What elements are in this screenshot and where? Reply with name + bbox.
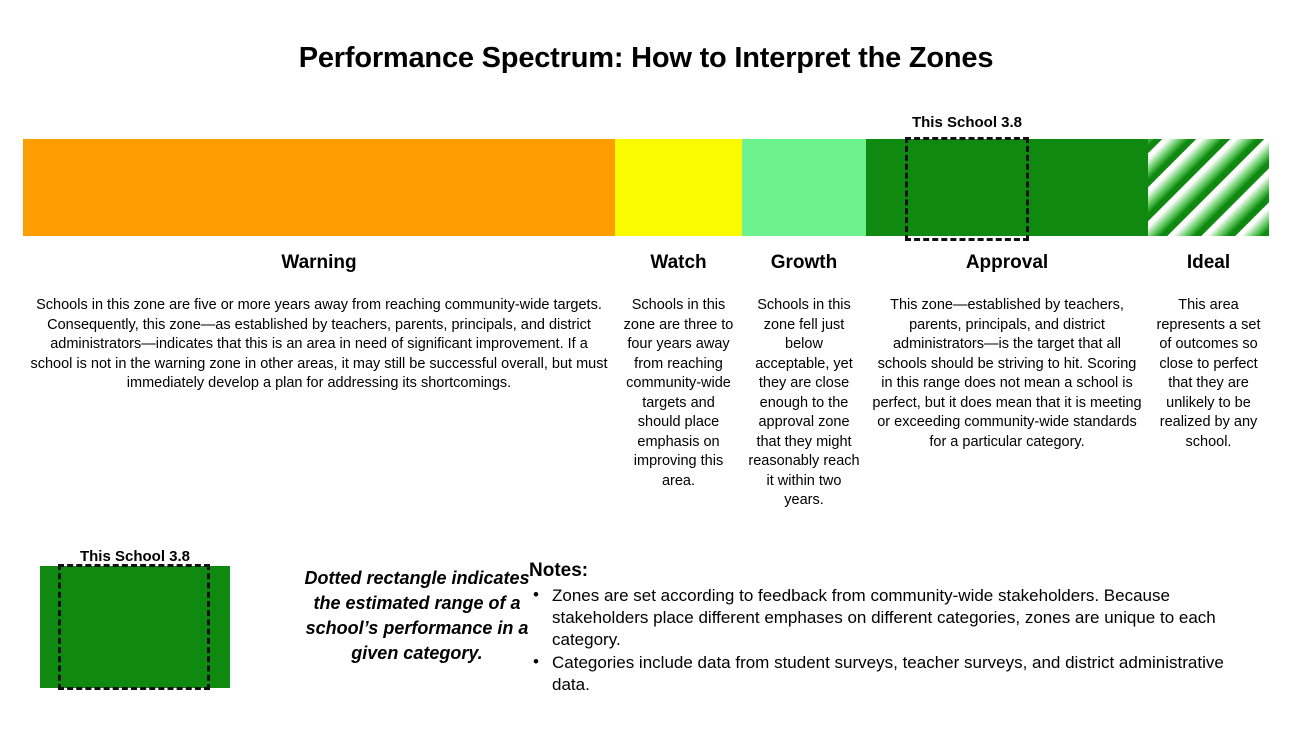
school-marker-label: This School 3.8 xyxy=(905,114,1029,132)
legend-swatch-group xyxy=(40,566,230,688)
marker-legend: This School 3.8 Dotted rectangle indicat… xyxy=(40,548,500,688)
spectrum-zone-growth xyxy=(742,139,866,236)
zone-column-watch: Watch Schools in this zone are three to … xyxy=(615,252,742,491)
zone-heading-approval: Approval xyxy=(872,252,1142,274)
zone-text-approval: This zone—established by teachers, paren… xyxy=(872,296,1142,452)
legend-dashed-rectangle xyxy=(58,564,210,690)
spectrum-zone-warning xyxy=(23,139,615,236)
notes-title: Notes: xyxy=(529,560,1229,582)
zone-text-watch: Schools in this zone are three to four y… xyxy=(621,296,736,491)
notes-section: Notes: • Zones are set according to feed… xyxy=(529,560,1229,697)
spectrum-zone-ideal xyxy=(1148,139,1269,236)
bullet-icon: • xyxy=(533,584,539,606)
legend-caption: Dotted rectangle indicates the estimated… xyxy=(293,566,541,666)
notes-list: • Zones are set according to feedback fr… xyxy=(529,585,1229,696)
zone-column-warning: Warning Schools in this zone are five or… xyxy=(23,252,615,394)
notes-list-item: • Zones are set according to feedback fr… xyxy=(529,585,1229,651)
zone-column-growth: Growth Schools in this zone fell just be… xyxy=(742,252,866,511)
notes-item-text: Zones are set according to feedback from… xyxy=(552,586,1216,649)
bullet-icon: • xyxy=(533,651,539,673)
page-title: Performance Spectrum: How to Interpret t… xyxy=(0,42,1292,75)
zone-column-approval: Approval This zone—established by teache… xyxy=(866,252,1148,452)
school-marker: This School 3.8 xyxy=(905,114,1029,132)
zone-text-growth: Schools in this zone fell just below acc… xyxy=(748,296,860,511)
zone-heading-ideal: Ideal xyxy=(1154,252,1263,274)
zone-descriptions: Warning Schools in this zone are five or… xyxy=(23,252,1269,511)
zone-text-ideal: This area represents a set of outcomes s… xyxy=(1154,296,1263,452)
zone-column-ideal: Ideal This area represents a set of outc… xyxy=(1148,252,1269,452)
notes-list-item: • Categories include data from student s… xyxy=(529,652,1229,696)
zone-text-warning: Schools in this zone are five or more ye… xyxy=(29,296,609,394)
performance-spectrum-bar xyxy=(23,139,1269,236)
spectrum-zone-watch xyxy=(615,139,742,236)
zone-heading-watch: Watch xyxy=(621,252,736,274)
spectrum-zone-approval xyxy=(866,139,1148,236)
zone-heading-warning: Warning xyxy=(29,252,609,274)
zone-heading-growth: Growth xyxy=(748,252,860,274)
notes-item-text: Categories include data from student sur… xyxy=(552,653,1224,694)
